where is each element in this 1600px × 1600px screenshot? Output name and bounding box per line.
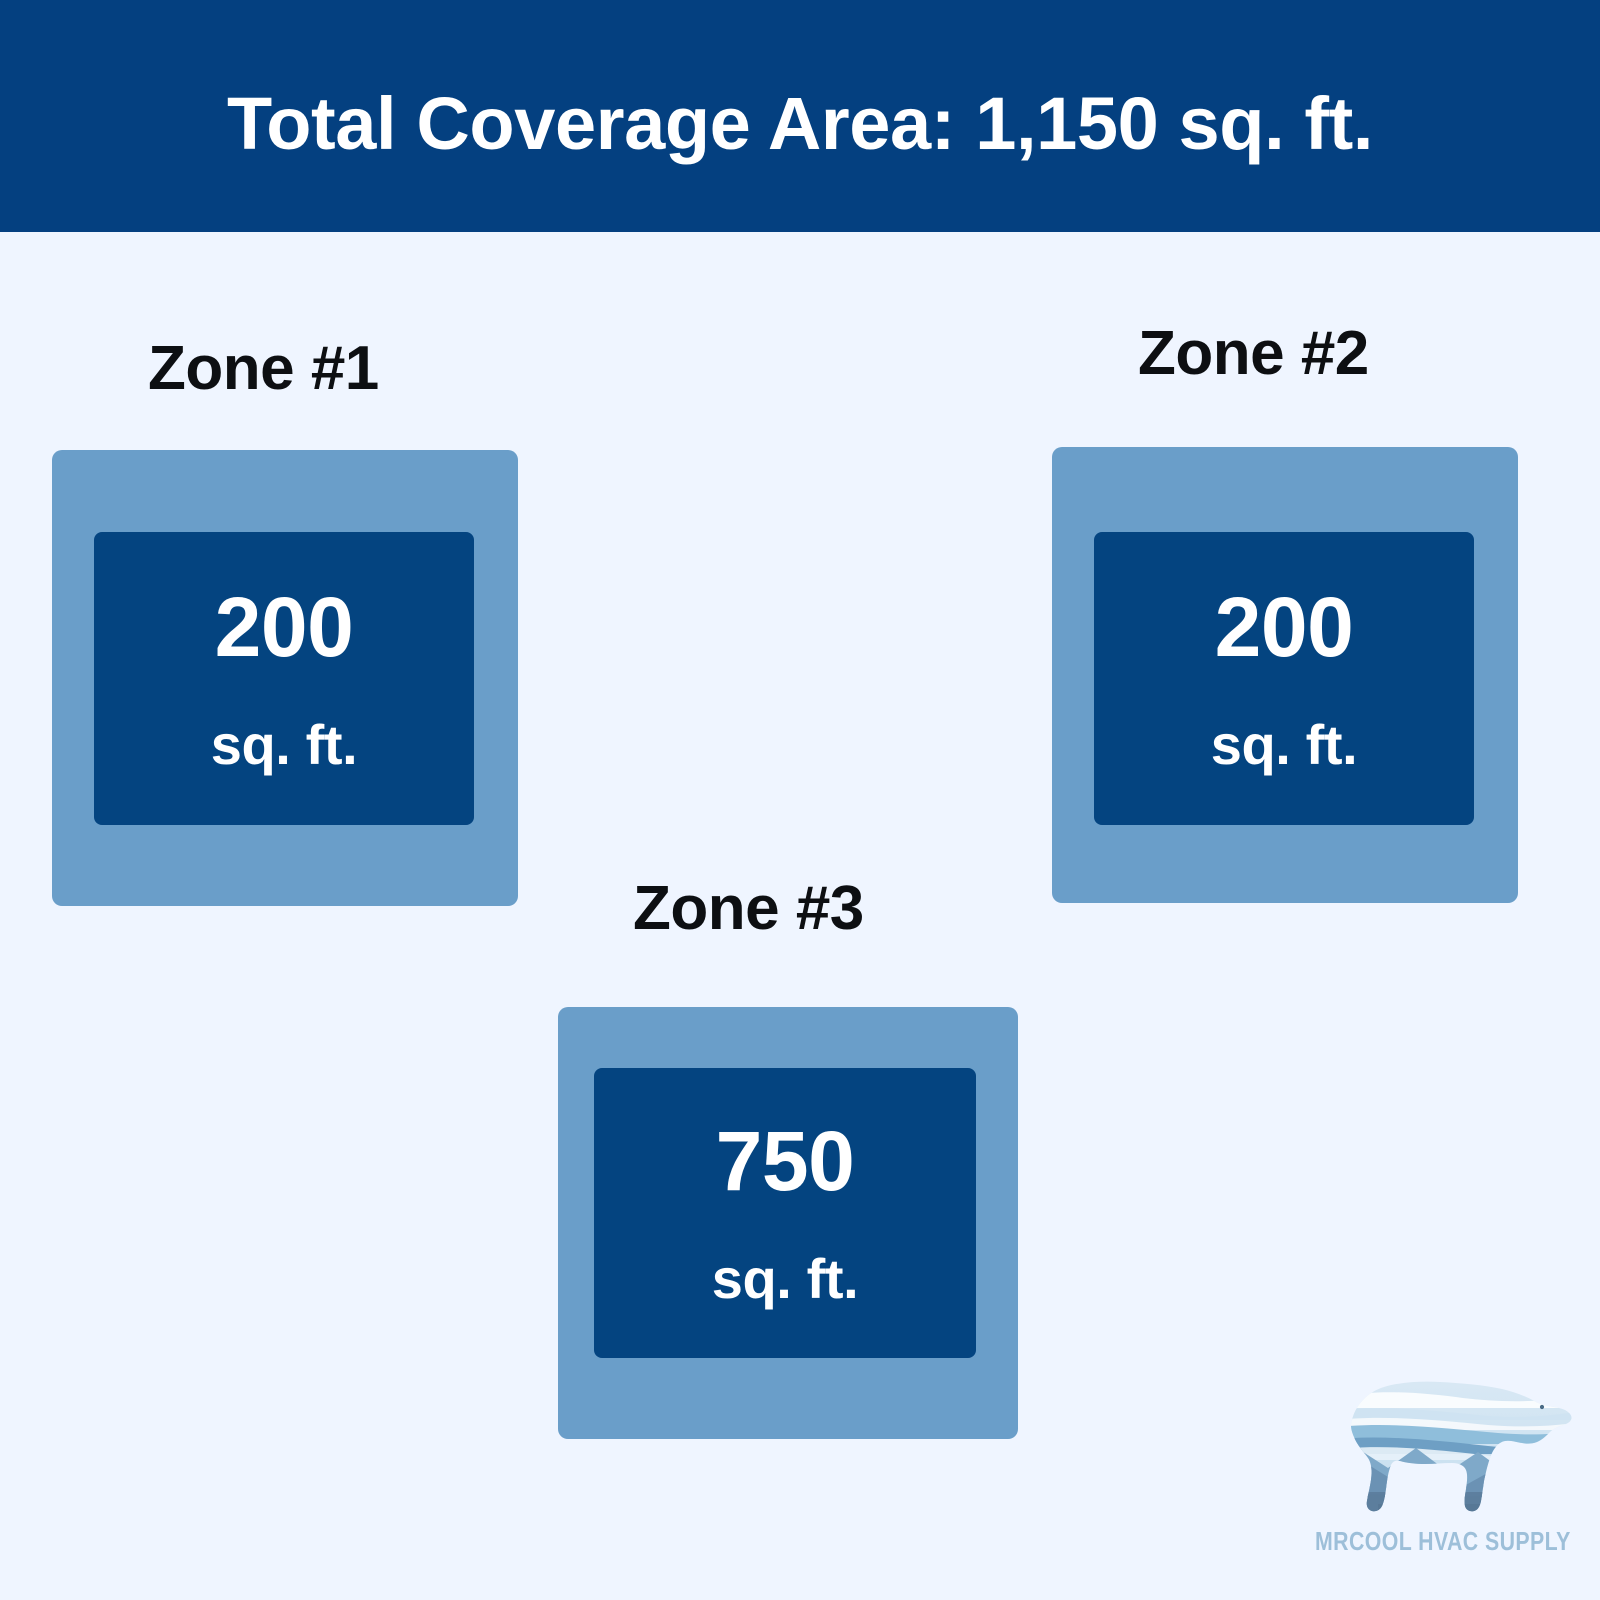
header-banner: Total Coverage Area: 1,150 sq. ft. xyxy=(0,0,1600,232)
zone-2-unit: sq. ft. xyxy=(1211,717,1358,773)
zone-1-value: 200 xyxy=(215,585,354,669)
brand-logo: MRCOOL HVAC SUPPLY xyxy=(1288,1358,1588,1583)
zone-1-label: Zone #1 xyxy=(148,333,379,404)
zone-3-inner-area: 750 sq. ft. xyxy=(594,1068,976,1358)
zone-2-inner-area: 200 sq. ft. xyxy=(1094,532,1474,825)
zone-3-label: Zone #3 xyxy=(633,873,864,944)
zone-3-value: 750 xyxy=(716,1119,855,1203)
page-title: Total Coverage Area: 1,150 sq. ft. xyxy=(0,0,1600,232)
polar-bear-icon xyxy=(1288,1358,1588,1528)
brand-name: MRCOOL HVAC SUPPLY xyxy=(1315,1526,1561,1557)
zone-2-value: 200 xyxy=(1215,585,1354,669)
zone-1-unit: sq. ft. xyxy=(211,717,358,773)
zone-3-unit: sq. ft. xyxy=(712,1251,859,1307)
zone-2-label: Zone #2 xyxy=(1138,318,1369,389)
zone-1-inner-area: 200 sq. ft. xyxy=(94,532,474,825)
